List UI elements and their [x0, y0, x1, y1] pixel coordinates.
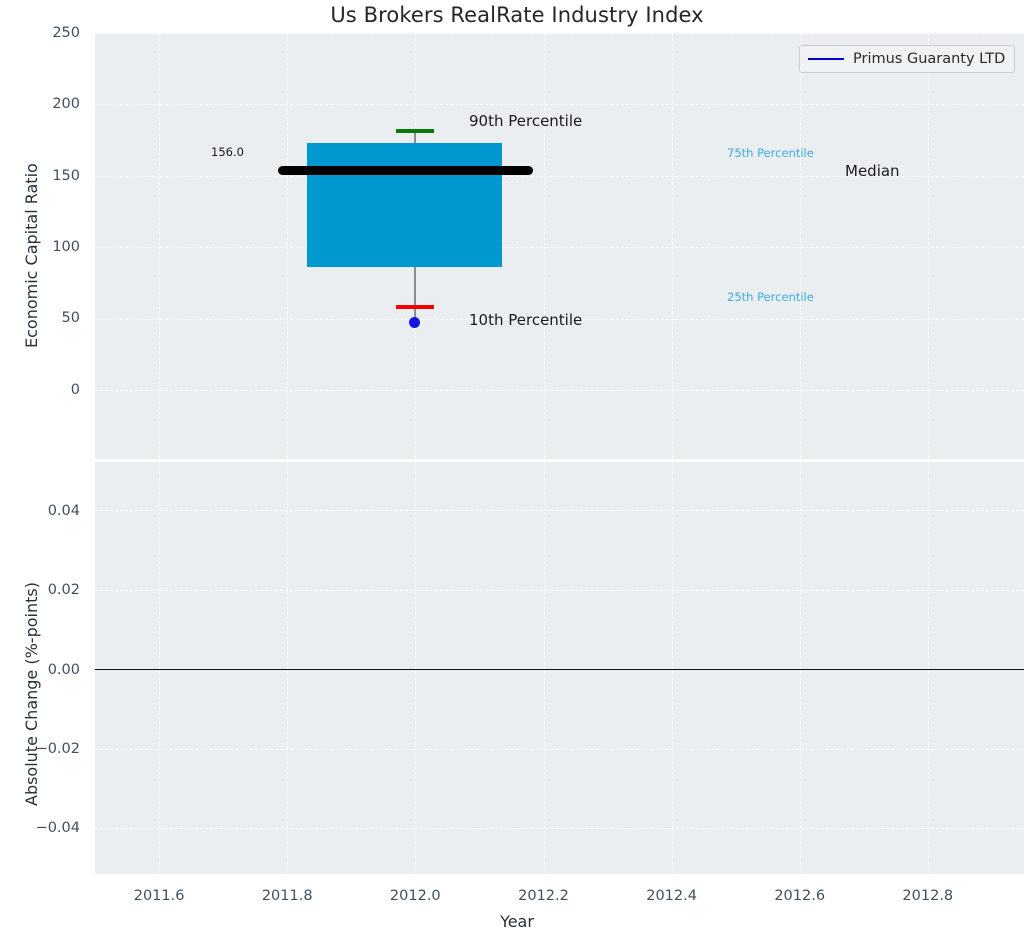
- ylabel-absolute-change: Absolute Change (%-points): [22, 582, 41, 806]
- xtick-label: 2012.0: [355, 888, 475, 904]
- p10-annotation: 10th Percentile: [469, 311, 582, 329]
- legend[interactable]: Primus Guaranty LTD: [799, 45, 1015, 73]
- interquartile-bar: [307, 143, 502, 267]
- gridline-h: [95, 390, 1024, 391]
- legend-line-icon: [808, 58, 844, 60]
- gridline-v: [415, 462, 416, 874]
- gridline-v: [928, 462, 929, 874]
- plot-area-absolute-change: [95, 462, 1024, 874]
- plot-area-economic-capital-ratio: 156.0 90th Percentile 10th Percentile 75…: [95, 33, 1024, 459]
- chart-figure: Us Brokers RealRate Industry Index 156.0…: [0, 0, 1034, 942]
- gridline-v: [544, 33, 545, 459]
- gridline-h: [95, 33, 1024, 34]
- xlabel-year: Year: [0, 912, 1034, 931]
- xtick-label: 2012.8: [868, 888, 988, 904]
- median-annotation: Median: [845, 162, 900, 180]
- company-data-point[interactable]: [409, 317, 420, 328]
- ytick-label: 250: [0, 25, 80, 41]
- gridline-v: [544, 462, 545, 874]
- p25-annotation: 25th Percentile: [727, 290, 814, 304]
- gridline-v: [159, 462, 160, 874]
- gridline-h: [95, 104, 1024, 105]
- gridline-h: [95, 247, 1024, 248]
- zero-reference-line: [95, 669, 1024, 670]
- gridline-v: [287, 462, 288, 874]
- p90-cap: [396, 129, 434, 133]
- median-value-annotation: 156.0: [211, 145, 244, 159]
- xtick-label: 2012.4: [612, 888, 732, 904]
- gridline-v: [800, 33, 801, 459]
- ytick-label: 0.04: [0, 503, 80, 519]
- gridline-v: [928, 33, 929, 459]
- gridline-h: [95, 590, 1024, 591]
- gridline-h: [95, 510, 1024, 511]
- chart-title: Us Brokers RealRate Industry Index: [0, 3, 1034, 27]
- gridline-h: [95, 828, 1024, 829]
- gridline-v: [672, 462, 673, 874]
- xtick-label: 2011.6: [99, 888, 219, 904]
- ytick-label: 0: [0, 382, 80, 398]
- p90-annotation: 90th Percentile: [469, 112, 582, 130]
- ytick-label: −0.04: [0, 820, 80, 836]
- gridline-v: [159, 33, 160, 459]
- xtick-label: 2011.8: [227, 888, 347, 904]
- ytick-label: 200: [0, 96, 80, 112]
- gridline-v: [672, 33, 673, 459]
- gridline-h: [95, 749, 1024, 750]
- p10-cap: [396, 305, 434, 309]
- legend-label: Primus Guaranty LTD: [853, 51, 1005, 67]
- p75-annotation: 75th Percentile: [727, 146, 814, 160]
- gridline-v: [800, 462, 801, 874]
- gridline-v: [287, 33, 288, 459]
- ylabel-economic-capital-ratio: Economic Capital Ratio: [22, 163, 41, 348]
- xtick-label: 2012.2: [484, 888, 604, 904]
- median-line: [278, 166, 533, 175]
- xtick-label: 2012.6: [740, 888, 860, 904]
